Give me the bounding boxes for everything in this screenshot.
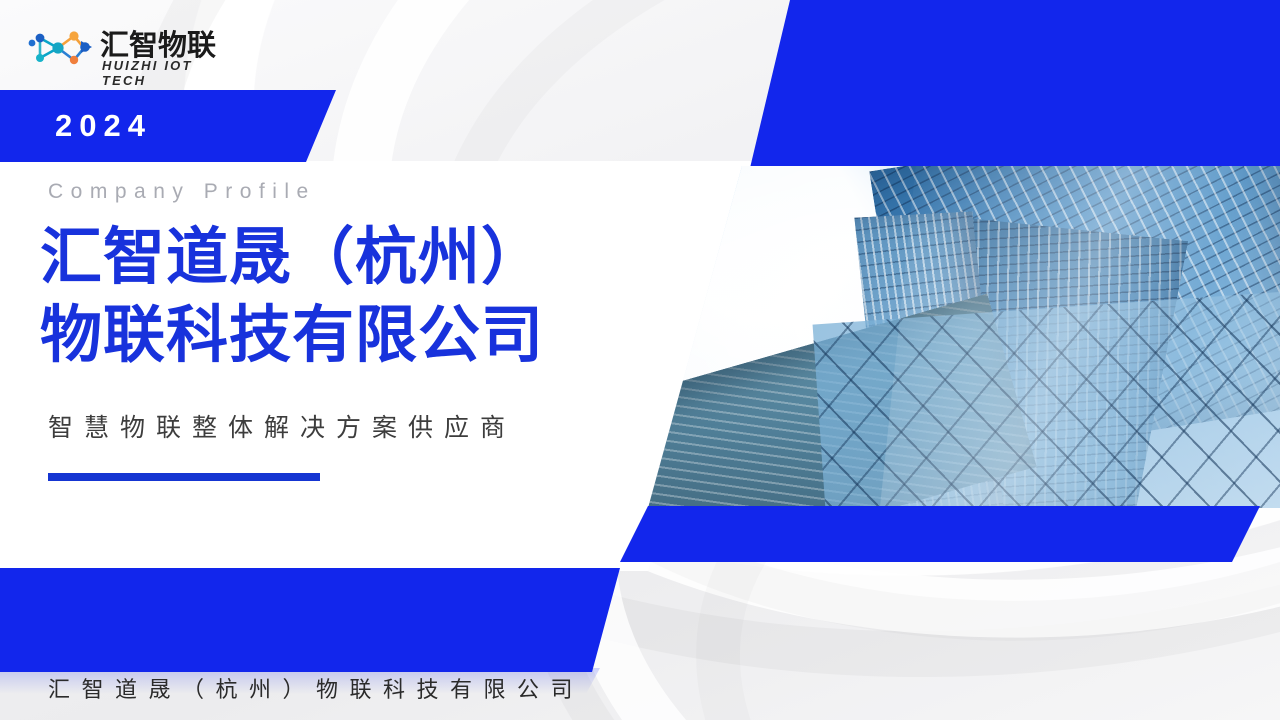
- slide-root: 汇智物联 HUIZHI IOT TECH 2024 Company Profil…: [0, 0, 1280, 720]
- photo-glare: [875, 166, 1280, 508]
- top-right-blue-band: [750, 0, 1280, 168]
- page-subtitle: 智慧物联整体解决方案供应商: [48, 408, 516, 444]
- logo-english-name: HUIZHI IOT TECH: [102, 58, 228, 88]
- title-underline-rule: [48, 473, 320, 481]
- year-label: 2024: [55, 108, 152, 144]
- photo-bottom-blue-band: [620, 506, 1260, 562]
- page-title: 汇智道晟（杭州） 物联科技有限公司: [40, 218, 700, 374]
- bottom-left-blue-band: [0, 568, 620, 672]
- company-logo[interactable]: 汇智物联 HUIZHI IOT TECH: [28, 22, 228, 78]
- page-title-line-2: 物联科技有限公司: [40, 296, 700, 374]
- footer-company-name: 汇智道晟（杭州）物联科技有限公司: [48, 672, 584, 704]
- year-banner: 2024: [0, 90, 340, 162]
- molecule-network-icon: [28, 26, 94, 70]
- eyebrow-text: Company Profile: [48, 180, 316, 204]
- page-title-line-1: 汇智道晟（杭州）: [40, 218, 700, 296]
